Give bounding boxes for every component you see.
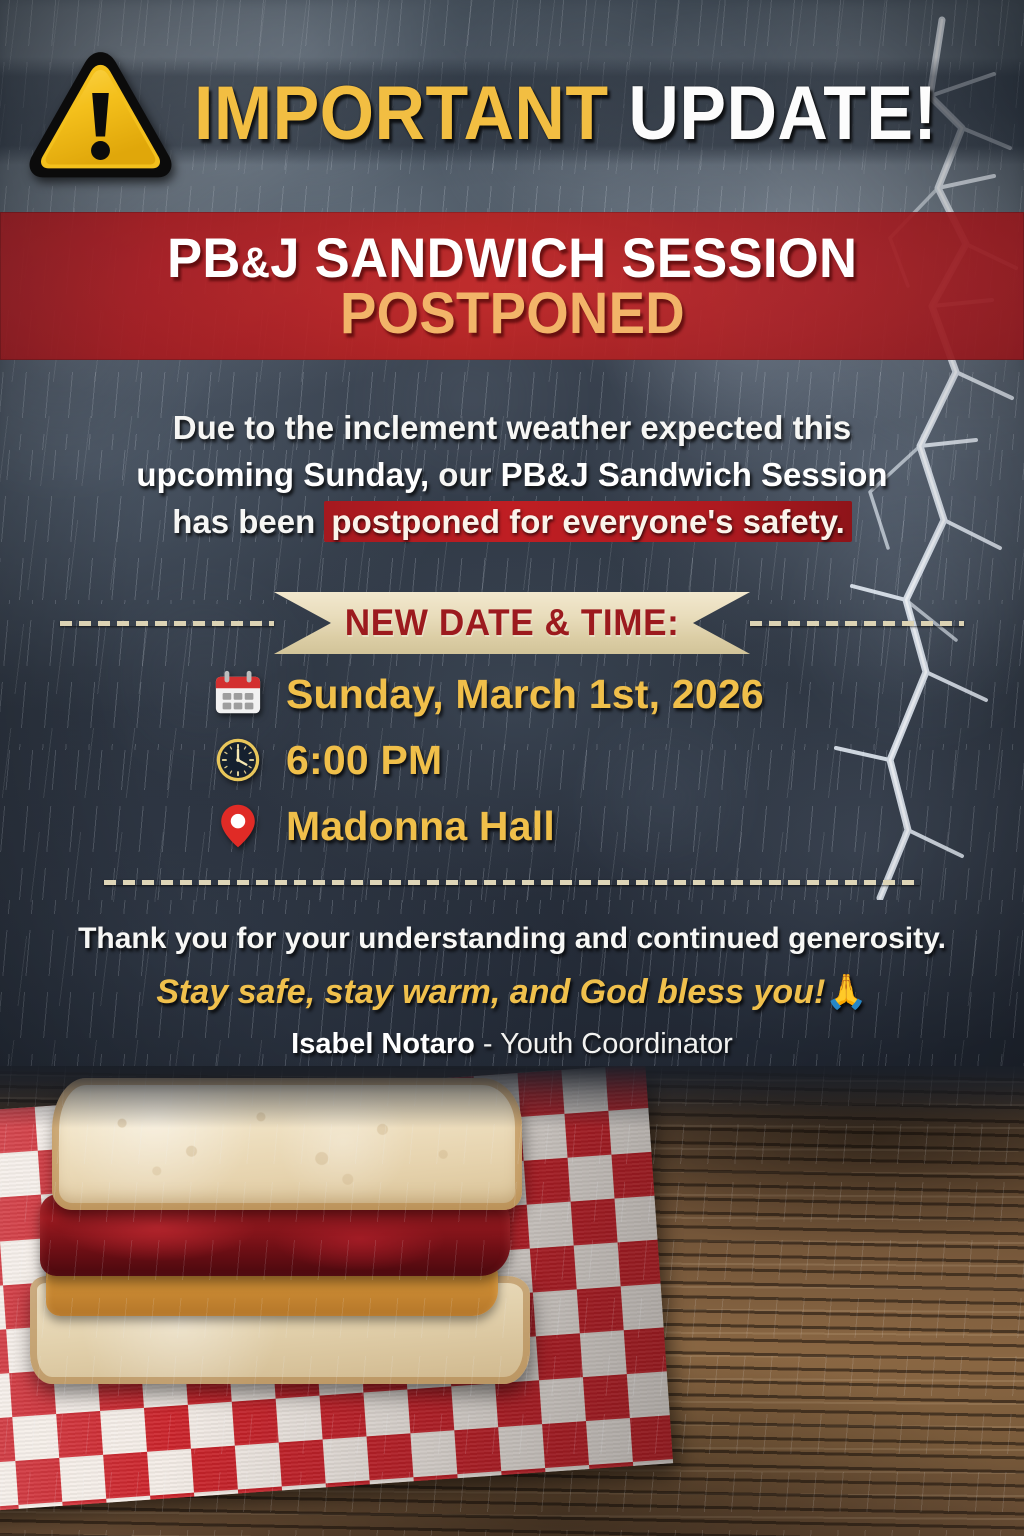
page-title: IMPORTANT UPDATE!: [194, 76, 937, 152]
detail-date-text: Sunday, March 1st, 2026: [286, 671, 764, 718]
praying-hands-icon: 🙏: [825, 973, 867, 1011]
warning-triangle-icon: [23, 47, 178, 185]
body-line-1: Due to the inclement weather expected th…: [173, 409, 852, 446]
divider-line: [104, 880, 920, 885]
detail-row-date: Sunday, March 1st, 2026: [212, 668, 764, 720]
poster-canvas: IMPORTANT UPDATE! PB&J SANDWICH SESSION …: [0, 0, 1024, 1536]
body-our: our: [429, 456, 501, 493]
event-details-list: Sunday, March 1st, 2026: [212, 668, 764, 852]
ribbon-dash-right: [750, 621, 964, 626]
photo-top-fade: [0, 1066, 1024, 1128]
body-upcoming-sunday: upcoming Sunday,: [136, 456, 429, 493]
new-date-time-ribbon: NEW DATE & TIME:: [60, 592, 964, 654]
banner-ampersand: &: [241, 239, 270, 287]
ribbon-banner: NEW DATE & TIME:: [274, 592, 750, 654]
body-paragraph: Due to the inclement weather expected th…: [50, 404, 974, 546]
detail-location-text: Madonna Hall: [286, 803, 555, 850]
title-important: IMPORTANT: [194, 71, 609, 156]
detail-row-time: 6:00 PM: [212, 734, 764, 786]
body-postponed-highlight: postponed for everyone's safety.: [324, 501, 851, 542]
banner-line-1: PB&J SANDWICH SESSION: [167, 229, 857, 287]
signature-line: Isabel Notaro - Youth Coordinator: [40, 1028, 984, 1061]
banner-line-2-postponed: POSTPONED: [340, 284, 685, 343]
header-section: IMPORTANT UPDATE!: [0, 44, 1024, 184]
ribbon-label: NEW DATE & TIME:: [345, 602, 680, 644]
closing-section: Thank you for your understanding and con…: [40, 922, 984, 1061]
banner-session: J SANDWICH SESSION: [270, 226, 857, 289]
calendar-icon: [212, 668, 264, 720]
detail-row-location: Madonna Hall: [212, 800, 764, 852]
body-session-name: PB&J Sandwich Session: [501, 456, 888, 493]
ribbon-dash-left: [60, 621, 274, 626]
thank-you-text: Thank you for your understanding and con…: [40, 922, 984, 956]
location-pin-icon: [212, 800, 264, 852]
title-update: UPDATE!: [608, 71, 937, 156]
signer-name: Isabel Notaro: [291, 1028, 475, 1060]
body-has-been: has been: [172, 503, 324, 540]
announcement-banner-text: PB&J SANDWICH SESSION POSTPONED: [0, 212, 1024, 360]
signer-role: - Youth Coordinator: [475, 1028, 733, 1060]
blessing-label: Stay safe, stay warm, and God bless you!: [156, 973, 825, 1011]
banner-pb: PB: [167, 226, 241, 289]
detail-time-text: 6:00 PM: [286, 737, 442, 784]
blessing-text: Stay safe, stay warm, and God bless you!…: [40, 972, 984, 1012]
sandwich-photo: [0, 1066, 1024, 1536]
clock-icon: [212, 734, 264, 786]
